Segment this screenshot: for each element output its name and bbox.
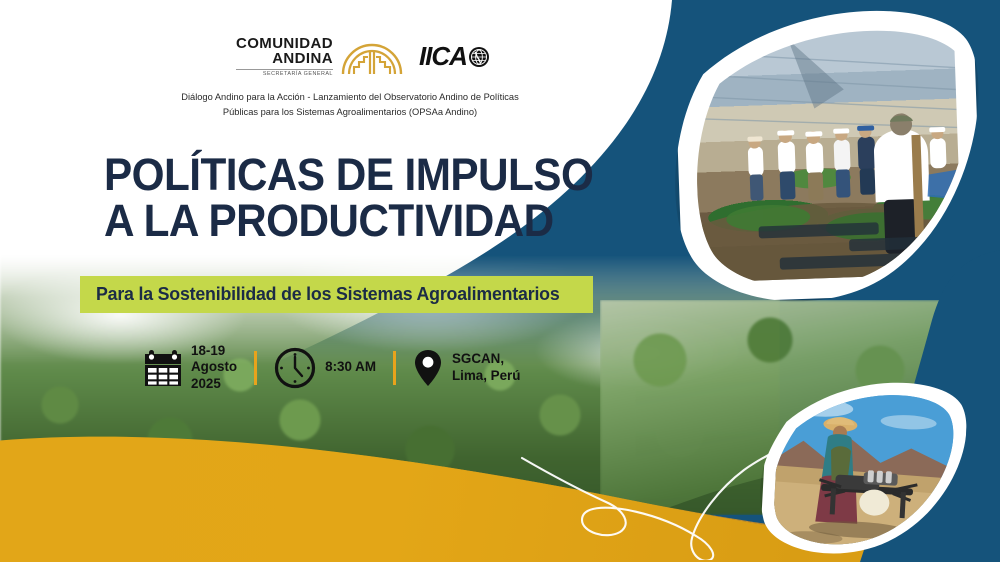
subtitle-banner-text: Para la Sostenibilidad de los Sistemas A… xyxy=(96,283,560,305)
event-place-line2: Lima, Perú xyxy=(452,368,520,384)
event-date-line3: 2025 xyxy=(191,376,237,392)
event-date-line2: Agosto xyxy=(191,359,237,375)
comunidad-andina-line3: SECRETARÍA GENERAL xyxy=(236,69,333,78)
comunidad-andina-line1: COMUNIDAD xyxy=(236,36,333,51)
globe-icon xyxy=(468,46,490,68)
logo-row: COMUNIDAD ANDINA SECRETARÍA GENERAL IICA xyxy=(236,36,490,77)
iica-logo: IICA xyxy=(419,41,490,72)
event-subtitle-line2: Públicas para los Sistemas Agroalimentar… xyxy=(60,105,640,120)
info-divider-2 xyxy=(393,351,396,385)
location-pin-icon xyxy=(413,348,443,388)
andean-arch-icon xyxy=(341,39,403,75)
poster-title: POLÍTICAS DE IMPULSO A LA PRODUCTIVIDAD xyxy=(104,152,630,244)
event-time-item: 8:30 AM xyxy=(274,347,376,389)
title-line2: A LA PRODUCTIVIDAD xyxy=(104,198,630,244)
info-divider-1 xyxy=(254,351,257,385)
comunidad-andina-wordmark: COMUNIDAD ANDINA SECRETARÍA GENERAL xyxy=(236,36,333,77)
iica-wordmark: IICA xyxy=(419,41,467,72)
event-place-line1: SGCAN, xyxy=(452,351,520,367)
greenhouse-nursery-field-visit-photo xyxy=(673,3,983,303)
photo-image xyxy=(772,386,956,557)
title-line1: POLÍTICAS DE IMPULSO xyxy=(104,149,593,200)
andean-farmer-drone-photo xyxy=(759,373,968,562)
decorative-swirl-line xyxy=(520,440,780,560)
event-subtitle: Diálogo Andino para la Acción - Lanzamie… xyxy=(60,90,640,120)
comunidad-andina-line2: ANDINA xyxy=(236,51,333,66)
event-info-row: 18-19 Agosto 2025 8:30 AM xyxy=(144,343,520,392)
event-place-text: SGCAN, Lima, Perú xyxy=(452,351,520,384)
event-date-item: 18-19 Agosto 2025 xyxy=(144,343,237,392)
event-place-item: SGCAN, Lima, Perú xyxy=(413,348,520,388)
photo-content xyxy=(772,386,956,557)
event-poster: COMUNIDAD ANDINA SECRETARÍA GENERAL IICA xyxy=(0,0,1000,562)
event-date-text: 18-19 Agosto 2025 xyxy=(191,343,237,392)
comunidad-andina-logo: COMUNIDAD ANDINA SECRETARÍA GENERAL xyxy=(236,36,403,77)
subtitle-banner: Para la Sostenibilidad de los Sistemas A… xyxy=(80,276,593,313)
calendar-icon xyxy=(144,349,182,387)
event-date-line1: 18-19 xyxy=(191,343,237,359)
clock-icon xyxy=(274,347,316,389)
event-subtitle-line1: Diálogo Andino para la Acción - Lanzamie… xyxy=(60,90,640,105)
event-time-text: 8:30 AM xyxy=(325,359,376,375)
